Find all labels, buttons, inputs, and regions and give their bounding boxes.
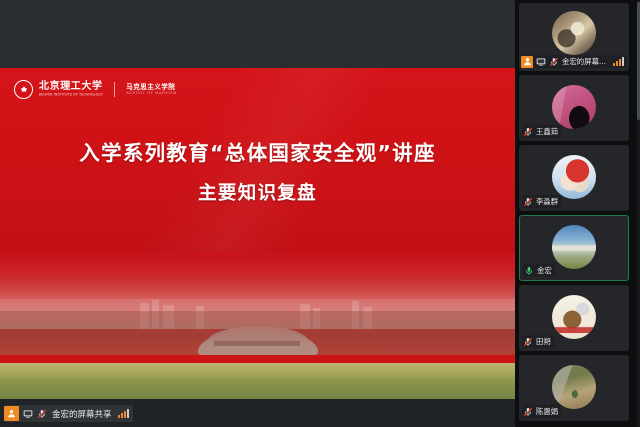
mic-muted-icon <box>522 406 533 417</box>
slide-title-sub: 主要知识复盘 <box>0 182 515 206</box>
photo-red-tint <box>0 253 515 399</box>
participant-tile[interactable]: 陈惠娟 <box>519 355 629 421</box>
slide-titles: 入学系列教育“总体国家安全观”讲座 主要知识复盘 <box>0 140 515 206</box>
mic-muted-icon <box>548 56 559 67</box>
share-status-label: 金宏的屏幕共享 <box>50 408 112 420</box>
share-status-bar[interactable]: 金宏的屏幕共享 <box>4 405 133 422</box>
university-name-en: BEIJING INSTITUTE OF TECHNOLOGY <box>39 92 103 98</box>
university-logo: 北京理工大学 BEIJING INSTITUTE OF TECHNOLOGY 马… <box>14 80 177 99</box>
participant-name: 陈惠娟 <box>535 406 558 417</box>
participant-badge: 李淼群 <box>522 195 561 208</box>
participant-badge: 陈惠娟 <box>522 405 561 418</box>
participant-name: 金宏 <box>536 265 552 276</box>
participant-badge: 金宏 <box>523 264 555 277</box>
shared-screen-stage[interactable]: 北京理工大学 BEIJING INSTITUTE OF TECHNOLOGY 马… <box>0 0 515 427</box>
campus-photo <box>0 253 515 399</box>
slide-title-main: 入学系列教育“总体国家安全观”讲座 <box>0 140 515 166</box>
participant-tile[interactable]: 李淼群 <box>519 145 629 211</box>
participant-tile[interactable]: 王鑫茹 <box>519 75 629 141</box>
person-icon <box>4 406 19 421</box>
bit-emblem-icon <box>14 80 33 99</box>
mic-muted-icon <box>522 126 533 137</box>
participant-name: 王鑫茹 <box>535 126 558 137</box>
signal-bars-icon <box>610 57 624 66</box>
avatar <box>552 85 596 129</box>
school-name-en: SCHOOL OF MARXISM <box>126 91 177 96</box>
mic-muted-icon <box>522 336 533 347</box>
participant-badge: 田朔 <box>522 335 554 348</box>
avatar <box>552 365 596 409</box>
participant-name: 金宏的屏幕... <box>561 56 606 67</box>
conference-window: 北京理工大学 BEIJING INSTITUTE OF TECHNOLOGY 马… <box>0 0 640 427</box>
participant-rail[interactable]: 金宏的屏幕... 王鑫茹 <box>515 0 640 427</box>
participant-name: 李淼群 <box>535 196 558 207</box>
presentation-slide: 北京理工大学 BEIJING INSTITUTE OF TECHNOLOGY 马… <box>0 68 515 399</box>
person-icon <box>521 56 533 68</box>
mic-on-icon <box>523 265 534 276</box>
logo-divider <box>114 82 115 97</box>
university-name-cn: 北京理工大学 <box>39 82 103 92</box>
avatar <box>552 225 596 269</box>
signal-bars-icon <box>115 409 129 418</box>
avatar <box>552 295 596 339</box>
participant-tile[interactable]: 金宏的屏幕... <box>519 3 629 71</box>
mic-muted-icon <box>36 408 47 419</box>
participant-name: 田朔 <box>535 336 551 347</box>
participant-tile[interactable]: 田朔 <box>519 285 629 351</box>
avatar <box>552 155 596 199</box>
screen-share-icon <box>22 408 33 419</box>
participant-badge: 金宏的屏幕... <box>521 55 627 68</box>
screen-share-icon <box>535 56 546 67</box>
mic-muted-icon <box>522 196 533 207</box>
school-name-cn: 马克思主义学院 <box>126 83 177 91</box>
participant-badge: 王鑫茹 <box>522 125 561 138</box>
avatar <box>552 11 596 55</box>
participant-tile[interactable]: 金宏 <box>519 215 629 281</box>
